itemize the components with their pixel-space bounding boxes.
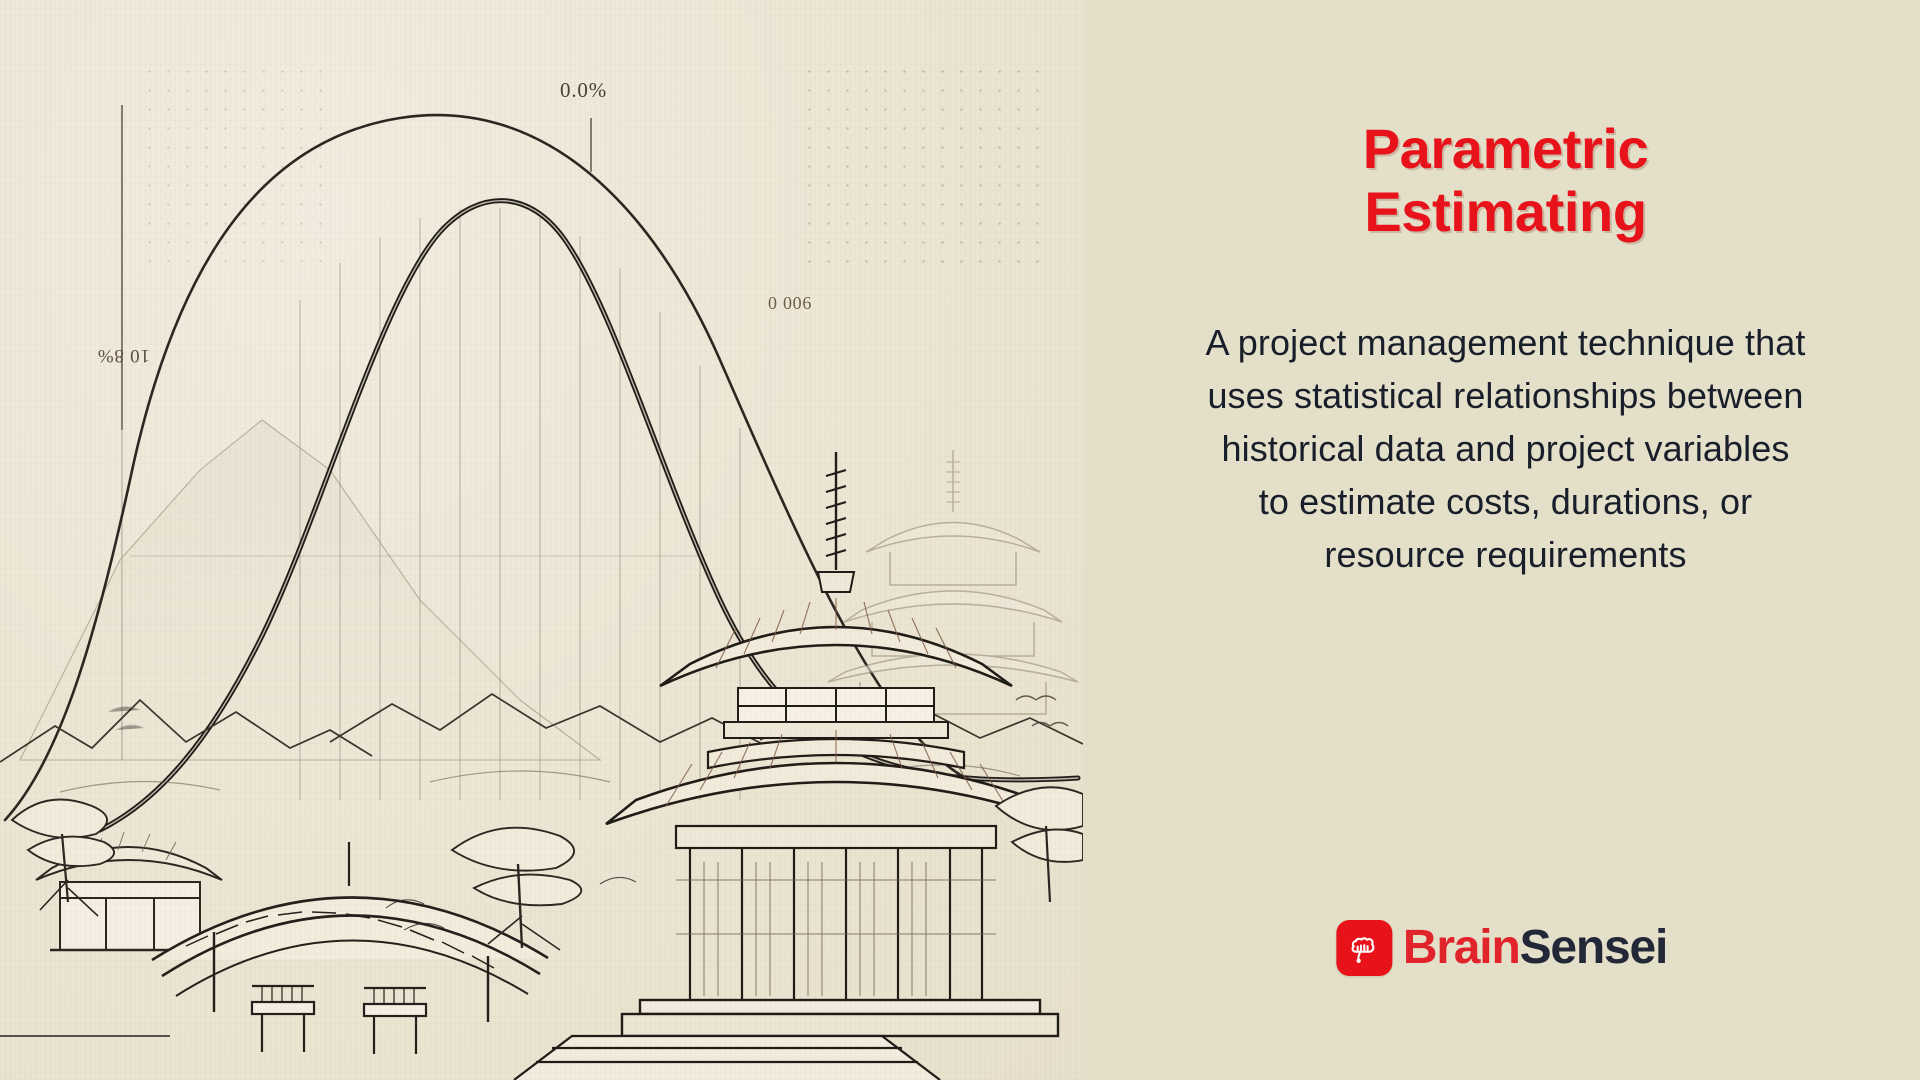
annotation-axis-label: 10 8% bbox=[97, 344, 150, 366]
background-pagoda bbox=[828, 450, 1078, 714]
logo-word-brain: Brain bbox=[1403, 924, 1520, 972]
annotation-peak-label: 0.0% bbox=[560, 78, 607, 103]
slide-root: 0.0% 0 006 10 8% Parametric Estimating A… bbox=[0, 0, 1920, 1080]
bird-marks bbox=[1016, 696, 1068, 726]
annotation-slope-label: 0 006 bbox=[768, 293, 812, 314]
foreground-pagoda bbox=[514, 452, 1066, 1080]
logo-wordmark: BrainSensei bbox=[1403, 924, 1667, 972]
stone-steps bbox=[514, 1036, 940, 1080]
description-text: A project management technique that uses… bbox=[1206, 317, 1806, 582]
background-mountain bbox=[20, 420, 600, 760]
illustration-panel: 0.0% 0 006 10 8% bbox=[0, 0, 1083, 1080]
page-title: Parametric Estimating bbox=[1236, 118, 1776, 243]
content-panel: Parametric Estimating A project manageme… bbox=[1083, 0, 1920, 1080]
dot-texture-block-right bbox=[800, 62, 1050, 277]
dot-texture-block-left bbox=[140, 62, 325, 262]
brain-icon bbox=[1336, 920, 1392, 976]
logo-word-sensei: Sensei bbox=[1520, 924, 1668, 972]
brand-logo[interactable]: BrainSensei bbox=[1336, 920, 1667, 976]
